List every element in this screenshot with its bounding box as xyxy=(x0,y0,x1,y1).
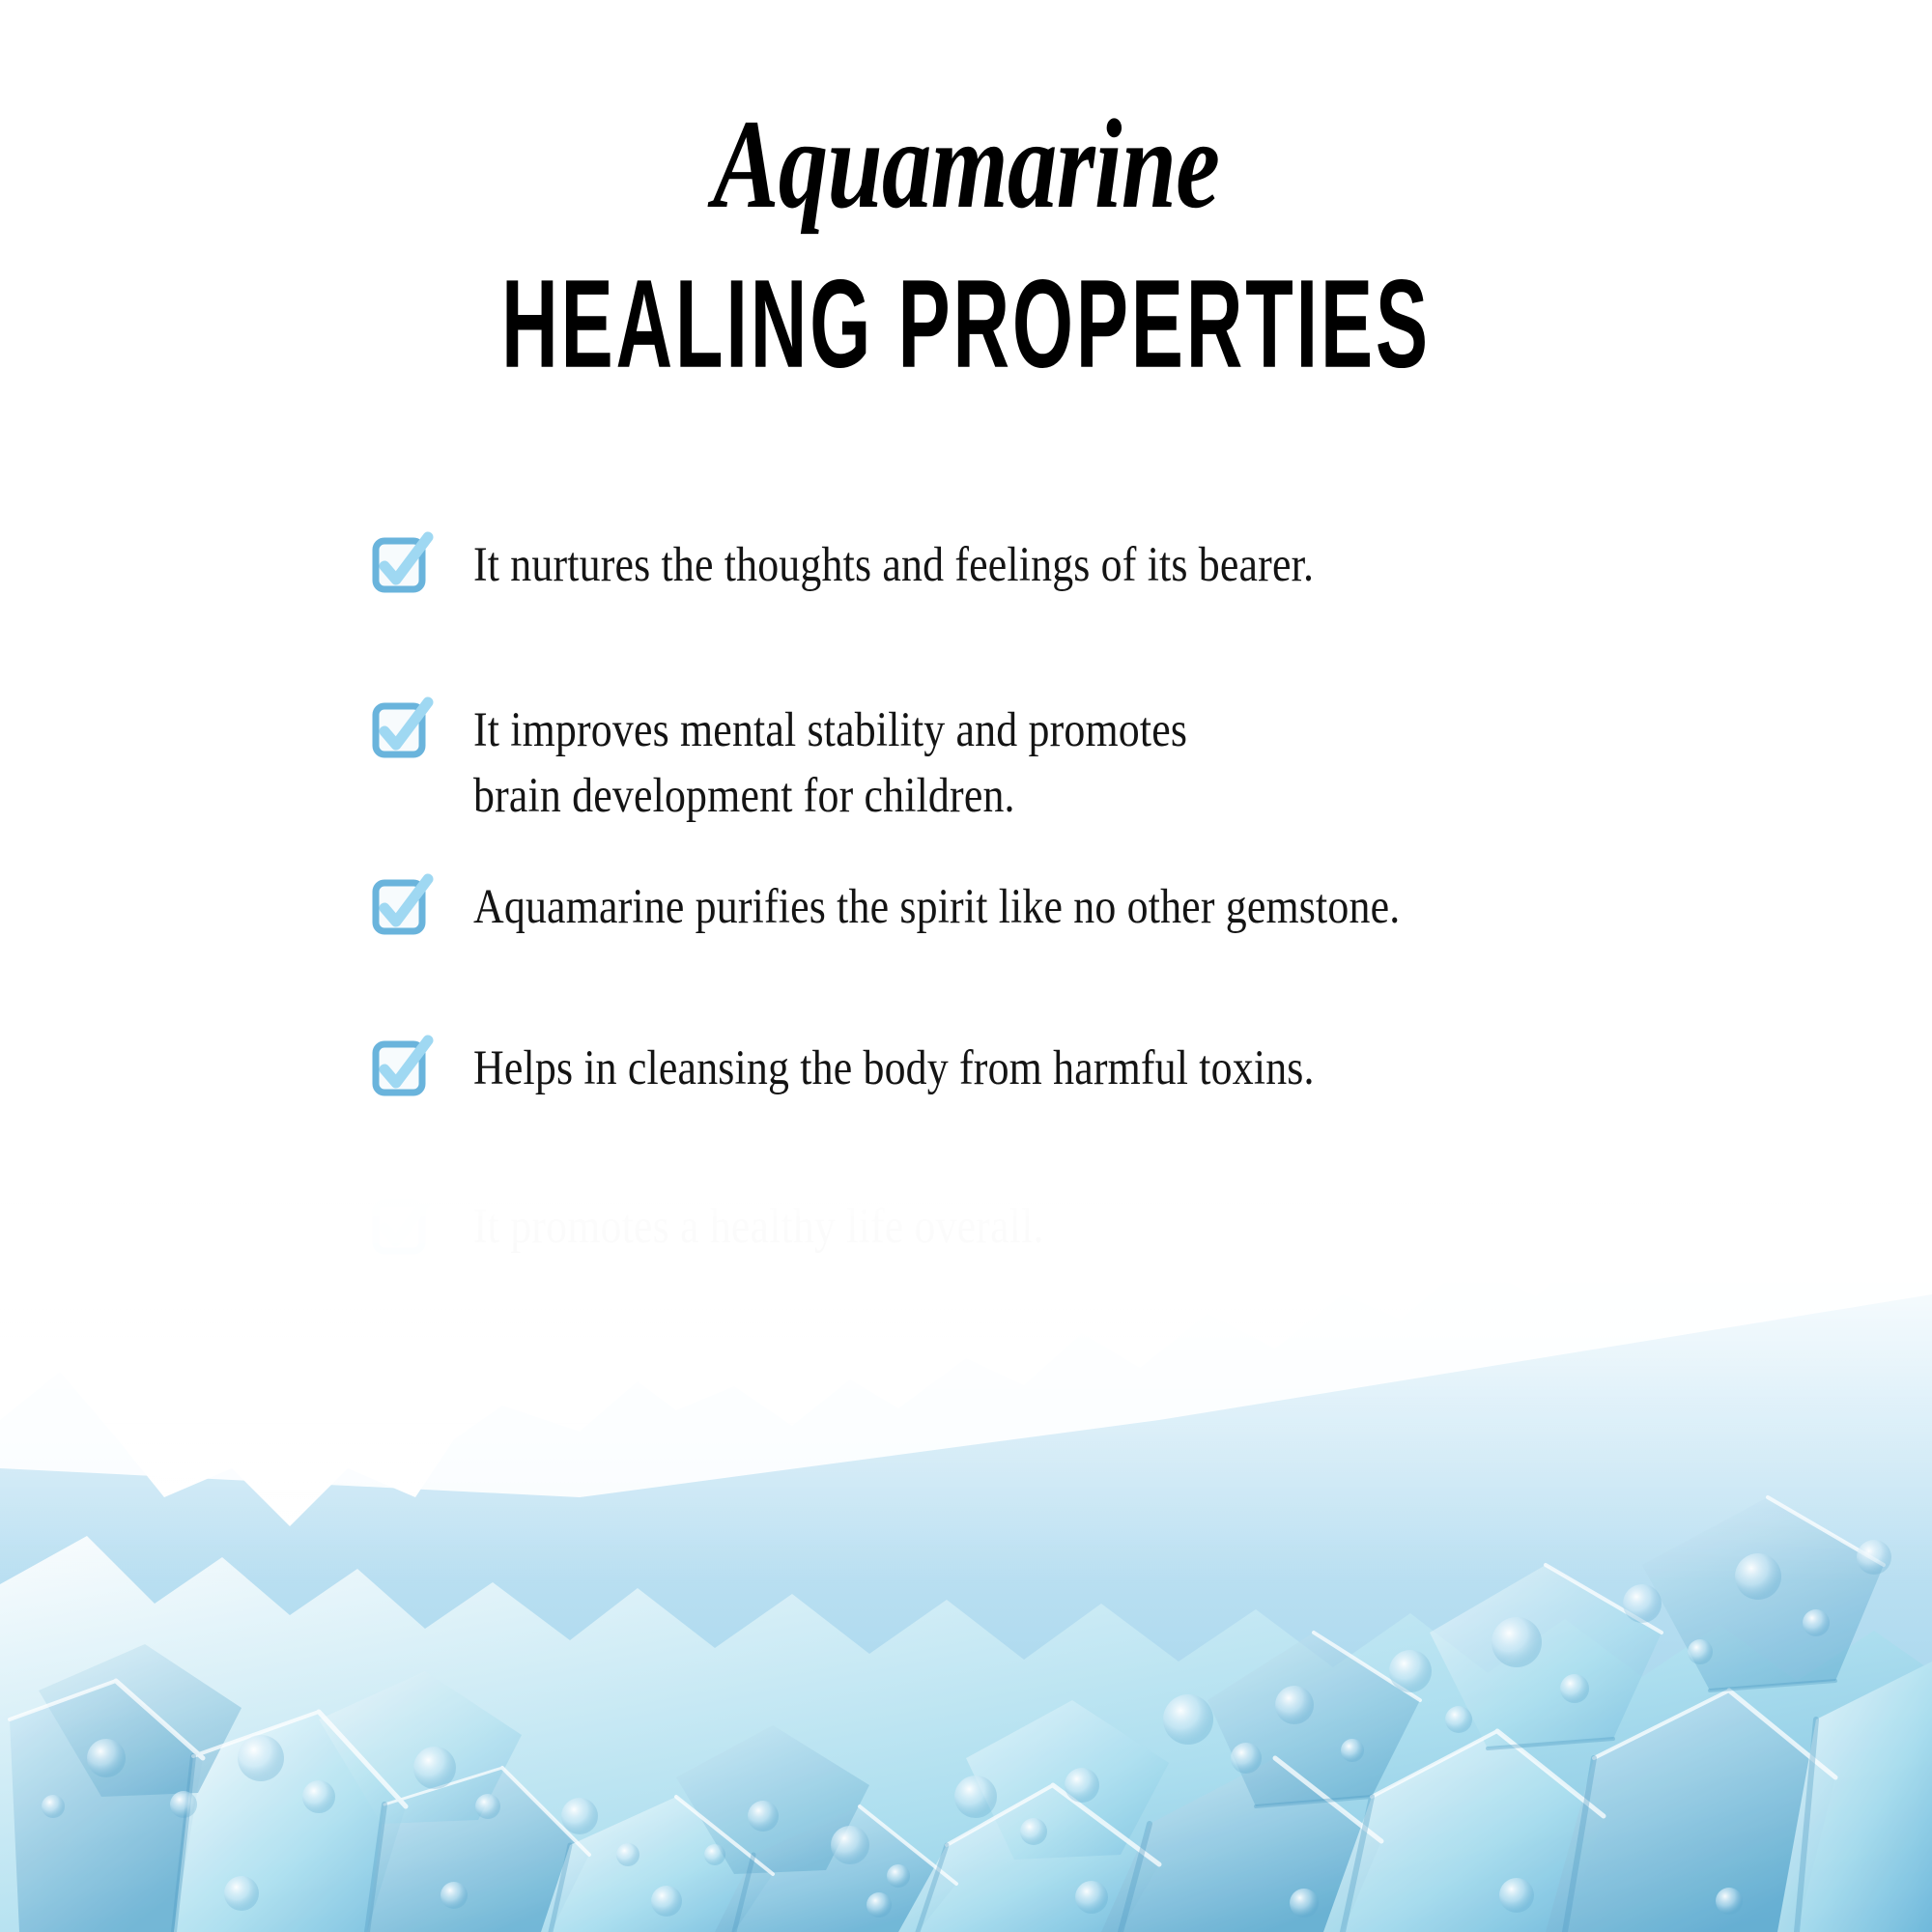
list-item-label: Aquamarine purifies the spirit like no o… xyxy=(473,875,1400,940)
list-item: It nurtures the thoughts and feelings of… xyxy=(373,533,1822,598)
page-title-script: Aquamarine xyxy=(213,100,1719,228)
list-item: It improves mental stability and promote… xyxy=(373,698,1822,829)
list-item-label: Helps in cleansing the body from harmful… xyxy=(473,1037,1315,1101)
spacer xyxy=(373,829,1822,875)
checkbox-checked-icon xyxy=(373,700,431,760)
checkbox-checked-icon xyxy=(373,877,431,937)
list-item: Aquamarine purifies the spirit like no o… xyxy=(373,875,1822,940)
checkbox-checked-icon xyxy=(373,1038,431,1098)
ice-cubes-photo xyxy=(0,1179,1932,1932)
page-title-headline: HEALING PROPERTIES xyxy=(290,261,1642,386)
healing-properties-list: It nurtures the thoughts and feelings of… xyxy=(373,533,1822,1260)
list-item: Helps in cleansing the body from harmful… xyxy=(373,1037,1822,1101)
header: Aquamarine HEALING PROPERTIES xyxy=(0,0,1932,373)
spacer xyxy=(373,940,1822,1037)
list-item-label: It improves mental stability and promote… xyxy=(473,698,1187,829)
checkbox-checked-icon xyxy=(373,535,431,595)
list-item-label: It nurtures the thoughts and feelings of… xyxy=(473,533,1314,598)
spacer xyxy=(373,598,1822,698)
poster-canvas: Aquamarine HEALING PROPERTIES It nurture… xyxy=(0,0,1932,1932)
